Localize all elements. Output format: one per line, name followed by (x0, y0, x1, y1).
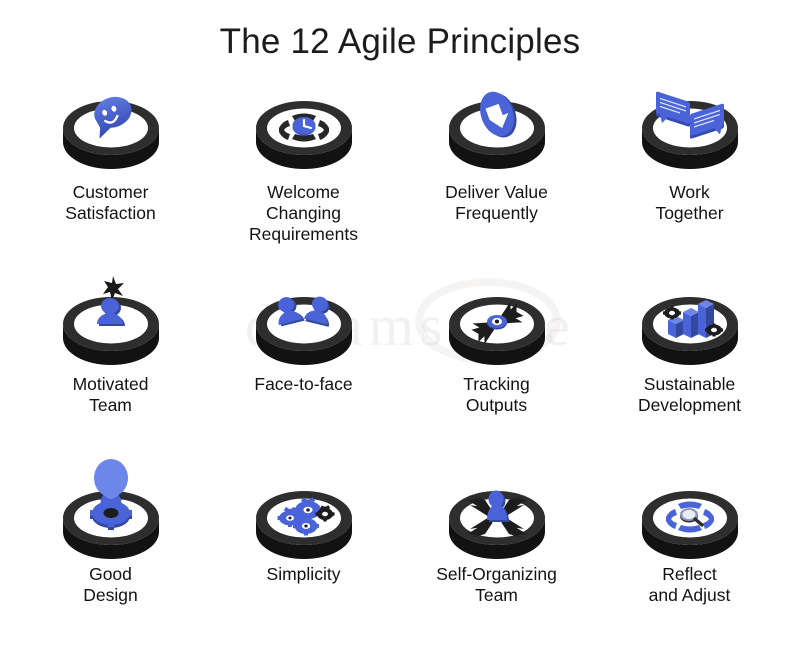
principle-card-work-together[interactable]: Work Together (593, 76, 786, 266)
principles-grid: Customer Satisfaction (0, 76, 800, 646)
speech-bubble-smiley-icon (51, 76, 171, 180)
principle-label: Sustainable Development (638, 374, 741, 416)
lightbulb-gear-icon (51, 456, 171, 560)
principle-label: Customer Satisfaction (65, 182, 155, 224)
person-with-star-icon (51, 266, 171, 370)
bar-chart-gears-icon (630, 266, 750, 370)
principle-card-motivated-team[interactable]: Motivated Team (14, 266, 207, 456)
principle-label: Good Design (83, 564, 137, 606)
clock-with-cycle-arrows-icon (244, 76, 364, 180)
principle-card-reflect-and-adjust[interactable]: Reflect and Adjust (593, 456, 786, 646)
principle-card-simplicity[interactable]: Simplicity (207, 456, 400, 646)
principle-label: Face-to-face (254, 374, 352, 395)
principle-label: Welcome Changing Requirements (249, 182, 358, 245)
agile-principles-infographic: The 12 Agile Principles dreamstime (0, 0, 800, 640)
principle-card-face-to-face[interactable]: Face-to-face (207, 266, 400, 456)
principle-label: Motivated Team (73, 374, 149, 416)
principle-label: Reflect and Adjust (649, 564, 731, 606)
principle-label: Tracking Outputs (463, 374, 529, 416)
principle-card-deliver-value-frequently[interactable]: Deliver Value Frequently (400, 76, 593, 266)
clock-fast-arrow-icon (437, 76, 557, 180)
two-speech-panels-icon (630, 76, 750, 180)
principle-card-tracking-outputs[interactable]: Tracking Outputs (400, 266, 593, 456)
principle-card-good-design[interactable]: Good Design (14, 456, 207, 646)
principle-card-customer-satisfaction[interactable]: Customer Satisfaction (14, 76, 207, 266)
principle-card-sustainable-development[interactable]: Sustainable Development (593, 266, 786, 456)
principle-card-welcome-changing-requirements[interactable]: Welcome Changing Requirements (207, 76, 400, 266)
principle-label: Work Together (655, 182, 723, 224)
principle-label: Simplicity (267, 564, 341, 585)
target-eye-four-arrows-icon (437, 266, 557, 370)
person-outward-arrows-icon (437, 456, 557, 560)
interlocking-gears-icon (244, 456, 364, 560)
page-title: The 12 Agile Principles (0, 0, 800, 64)
two-people-facing-icon (244, 266, 364, 370)
principle-card-self-organizing-team[interactable]: Self-Organizing Team (400, 456, 593, 646)
magnifier-cycle-arrows-icon (630, 456, 750, 560)
principle-label: Self-Organizing Team (436, 564, 557, 606)
principle-label: Deliver Value Frequently (445, 182, 548, 224)
